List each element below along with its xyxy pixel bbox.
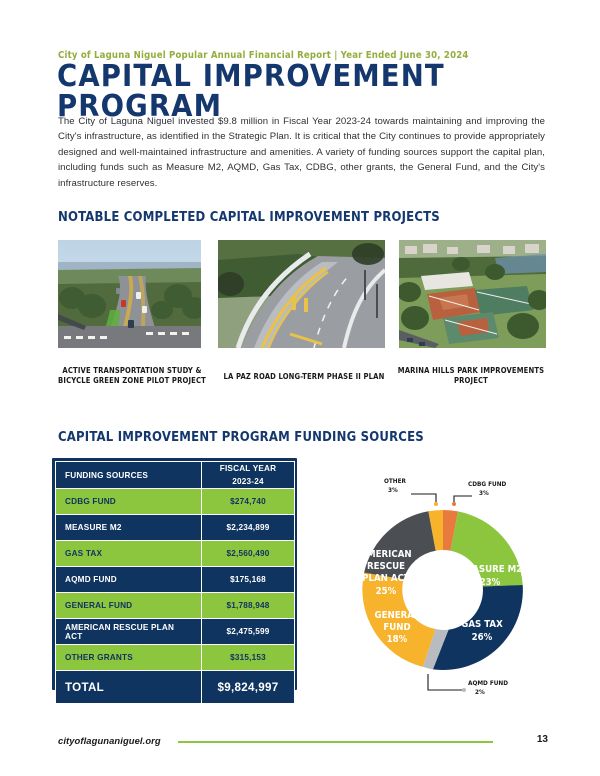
row-value-gas-tax: $2,560,490 (202, 541, 295, 567)
project-caption-2: LA PAZ ROAD LONG-TERM PHASE II PLAN (216, 372, 392, 382)
row-label-general-fund: GENERAL FUND (56, 593, 202, 619)
table-row: GAS TAX $2,560,490 (56, 541, 295, 567)
label-arpa-l3: PLAN ACT (362, 573, 410, 584)
row-value-aqmd-fund: $175,168 (202, 567, 295, 593)
table-row: AMERICAN RESCUE PLAN ACT $2,475,599 (56, 619, 295, 645)
table-row: OTHER GRANTS $315,153 (56, 645, 295, 671)
table-total-row: TOTAL $9,824,997 (56, 671, 295, 704)
row-label-measure-m2: MEASURE M2 (56, 515, 202, 541)
label-gas-tax-value: 26% (472, 632, 493, 643)
callout-cdbg-fund: CDBG FUND 3% (452, 480, 507, 506)
row-value-measure-m2: $2,234,899 (202, 515, 295, 541)
label-gas-tax-name: GAS TAX (461, 619, 503, 630)
callout-other-value: 3% (388, 486, 398, 494)
footer-page-number: 13 (528, 734, 548, 745)
row-label-american-rescue-plan-act: AMERICAN RESCUE PLAN ACT (56, 619, 202, 645)
table-row: CDBG FUND $274,740 (56, 489, 295, 515)
project-caption-3: MARINA HILLS PARK IMPROVEMENTS PROJECT (396, 366, 546, 386)
page-title: CAPITAL IMPROVEMENT PROGRAM (57, 62, 600, 122)
section-heading-projects: NOTABLE COMPLETED CAPITAL IMPROVEMENT PR… (58, 210, 440, 225)
footer-website-url[interactable]: cityoflagunaniguel.org (58, 735, 161, 746)
row-label-other-grants: OTHER GRANTS (56, 645, 202, 671)
row-value-american-rescue-plan-act: $2,475,599 (202, 619, 295, 645)
label-general-fund-l1: GENERAL (375, 610, 420, 621)
label-general-fund-value: 18% (387, 634, 408, 645)
row-label-aqmd-fund: AQMD FUND (56, 567, 202, 593)
funding-sources-table: FUNDING SOURCES FISCAL YEAR 2023-24 CDBG… (55, 461, 295, 704)
row-value-total: $9,824,997 (202, 671, 295, 704)
row-value-other-grants: $315,153 (202, 645, 295, 671)
footer-divider-rule (178, 741, 493, 743)
callout-cdbg-value: 3% (479, 489, 489, 497)
page: City of Laguna Niguel Popular Annual Fin… (0, 0, 600, 776)
table-row: MEASURE M2 $2,234,899 (56, 515, 295, 541)
table-row: GENERAL FUND $1,788,948 (56, 593, 295, 619)
label-arpa-l1: AMERICAN (360, 549, 411, 560)
row-value-cdbg-fund: $274,740 (202, 489, 295, 515)
label-measure-m2-name: MEASURE M2 (458, 564, 523, 575)
row-label-gas-tax: GAS TAX (56, 541, 202, 567)
funding-sources-donut-chart: MEASURE M2 23% GAS TAX 26% GENERAL FUND … (318, 452, 568, 700)
row-label-cdbg-fund: CDBG FUND (56, 489, 202, 515)
table-header-row: FUNDING SOURCES FISCAL YEAR 2023-24 (56, 462, 295, 489)
row-label-total: TOTAL (56, 671, 202, 704)
callout-other-name: OTHER (384, 477, 407, 485)
label-arpa-value: 25% (376, 586, 397, 597)
row-value-general-fund: $1,788,948 (202, 593, 295, 619)
label-measure-m2-value: 23% (480, 577, 501, 588)
column-header-fiscal-year-line2: 2023-24 (232, 477, 263, 486)
project-photos (58, 240, 546, 350)
callout-other: OTHER 3% (384, 477, 438, 506)
callout-aqmd-name: AQMD FUND (468, 679, 508, 687)
project-photo-la-paz-road (218, 240, 385, 348)
segment-measure-m2 (451, 511, 523, 586)
intro-paragraph: The City of Laguna Niguel invested $9.8 … (58, 114, 545, 191)
project-caption-1: ACTIVE TRANSPORTATION STUDY & BICYCLE GR… (58, 366, 206, 386)
callout-aqmd-fund: AQMD FUND 2% (428, 674, 508, 696)
section-heading-funding: CAPITAL IMPROVEMENT PROGRAM FUNDING SOUR… (58, 430, 424, 445)
project-photo-marina-hills-park (399, 240, 546, 348)
callout-cdbg-name: CDBG FUND (468, 480, 507, 488)
column-header-fiscal-year: FISCAL YEAR 2023-24 (202, 462, 295, 489)
column-header-fiscal-year-line1: FISCAL YEAR (220, 464, 277, 473)
label-general-fund-l2: FUND (383, 622, 410, 633)
table-row: AQMD FUND $175,168 (56, 567, 295, 593)
column-header-funding-sources: FUNDING SOURCES (56, 462, 202, 489)
callout-aqmd-value: 2% (475, 688, 485, 696)
project-photo-active-transportation (58, 240, 201, 348)
label-arpa-l2: RESCUE (367, 561, 405, 572)
